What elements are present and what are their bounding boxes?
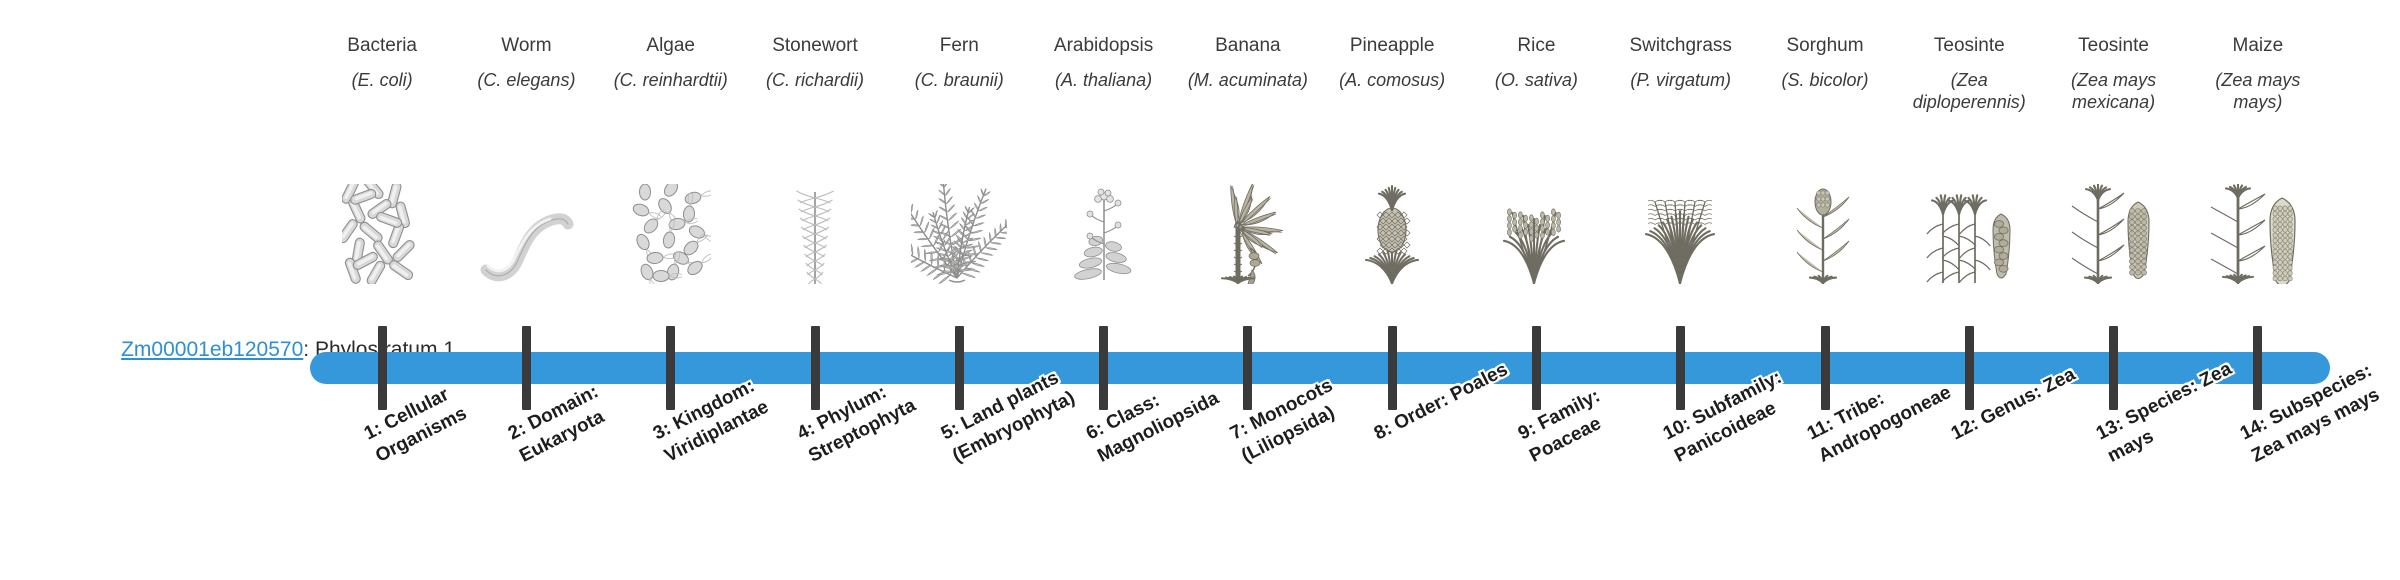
species-common-name: Bacteria	[317, 34, 447, 57]
stonewort-icon	[750, 184, 880, 284]
phylostratum-tick	[1676, 326, 1685, 410]
species-column: Pineapple(A. comosus)	[1327, 34, 1457, 91]
species-common-name: Algae	[606, 34, 736, 57]
species-latin-name: (C. braunii)	[894, 69, 1024, 91]
species-column: Bacteria(E. coli)	[317, 34, 447, 91]
stratum-index: 4:	[794, 418, 819, 444]
species-column: Banana(M. acuminata)	[1183, 34, 1313, 91]
species-common-name: Rice	[1471, 34, 1601, 57]
stratum-index: 9:	[1515, 418, 1540, 444]
species-common-name: Worm	[461, 34, 591, 57]
arabidopsis-icon	[1039, 184, 1169, 284]
phylostratum-tick	[522, 326, 531, 410]
species-latin-name: (Zea diploperennis)	[1904, 69, 2034, 113]
stratum-rank: Genus:	[1977, 381, 2045, 429]
phylostratigraphy-chart: Zm00001eb120570: Phylostratum 1 Bacteria…	[0, 0, 2400, 580]
species-common-name: Arabidopsis	[1039, 34, 1169, 57]
species-column: Sorghum(S. bicolor)	[1760, 34, 1890, 91]
stratum-index: 8:	[1371, 418, 1396, 444]
species-column: Switchgrass(P. virgatum)	[1616, 34, 1746, 91]
fern-icon	[894, 184, 1024, 284]
stratum-index: 6:	[1082, 418, 1107, 444]
species-column: Maize(Zea mays mays)	[2193, 34, 2323, 113]
species-column: Algae(C. reinhardtii)	[606, 34, 736, 91]
phylostratum-tick	[666, 326, 675, 410]
teosinte-mex-icon	[2049, 184, 2179, 284]
species-common-name: Fern	[894, 34, 1024, 57]
species-common-name: Stonewort	[750, 34, 880, 57]
species-latin-name: (Zea mays mays)	[2193, 69, 2323, 113]
species-latin-name: (S. bicolor)	[1760, 69, 1890, 91]
species-column: Fern(C. braunii)	[894, 34, 1024, 91]
stratum-taxon: Andropogoneae	[1815, 382, 1954, 467]
phylostratum-tick	[1965, 326, 1974, 410]
species-latin-name: (C. elegans)	[461, 69, 591, 91]
switchgrass-icon	[1616, 184, 1746, 284]
species-column: Stonewort(C. richardii)	[750, 34, 880, 91]
bacteria-icon	[317, 184, 447, 284]
species-common-name: Pineapple	[1327, 34, 1457, 57]
maize-icon	[2193, 184, 2323, 284]
species-latin-name: (C. richardii)	[750, 69, 880, 91]
phylostratum-tick	[1821, 326, 1830, 410]
species-latin-name: (P. virgatum)	[1616, 69, 1746, 91]
stratum-rank: Order:	[1391, 389, 1452, 434]
species-column: Rice(O. sativa)	[1471, 34, 1601, 91]
phylostratum-tick	[2253, 326, 2262, 410]
stratum-index: 5:	[938, 418, 963, 444]
species-latin-name: (A. thaliana)	[1039, 69, 1169, 91]
species-latin-name: (C. reinhardtii)	[606, 69, 736, 91]
banana-icon	[1183, 184, 1313, 284]
gene-id-link[interactable]: Zm00001eb120570	[121, 338, 303, 361]
stratum-index: 2:	[505, 418, 530, 444]
worm-icon	[461, 184, 591, 284]
pineapple-icon	[1327, 184, 1457, 284]
stratum-index: 12:	[1948, 413, 1982, 444]
species-latin-name: (O. sativa)	[1471, 69, 1601, 91]
species-common-name: Switchgrass	[1616, 34, 1746, 57]
species-common-name: Sorghum	[1760, 34, 1890, 57]
species-common-name: Teosinte	[2049, 34, 2179, 57]
species-column: Teosinte(Zea diploperennis)	[1904, 34, 2034, 113]
phylostratum-tick	[955, 326, 964, 410]
species-common-name: Banana	[1183, 34, 1313, 57]
species-column: Arabidopsis(A. thaliana)	[1039, 34, 1169, 91]
species-latin-name: (M. acuminata)	[1183, 69, 1313, 91]
rice-icon	[1471, 184, 1601, 284]
species-latin-name: (E. coli)	[317, 69, 447, 91]
phylostratum-tick	[1532, 326, 1541, 410]
stratum-index: 1:	[361, 418, 386, 444]
stratum-index: 7:	[1227, 418, 1252, 444]
species-latin-name: (A. comosus)	[1327, 69, 1457, 91]
phylostratum-tick	[1243, 326, 1252, 410]
phylostratum-tick	[811, 326, 820, 410]
phylostratum-tick	[1388, 326, 1397, 410]
species-column: Teosinte(Zea mays mexicana)	[2049, 34, 2179, 113]
species-common-name: Maize	[2193, 34, 2323, 57]
phylostratum-tick	[378, 326, 387, 410]
phylostratum-tick	[2109, 326, 2118, 410]
species-header-row: Bacteria(E. coli)Worm(C. elegans) Algae(…	[0, 0, 2400, 320]
stratum-index: 3:	[650, 418, 675, 444]
species-latin-name: (Zea mays mexicana)	[2049, 69, 2179, 113]
species-common-name: Teosinte	[1904, 34, 2034, 57]
species-column: Worm(C. elegans)	[461, 34, 591, 91]
sorghum-icon	[1760, 184, 1890, 284]
algae-icon	[606, 184, 736, 284]
phylostratum-tick	[1099, 326, 1108, 410]
teosinte-diplo-icon	[1904, 184, 2034, 284]
